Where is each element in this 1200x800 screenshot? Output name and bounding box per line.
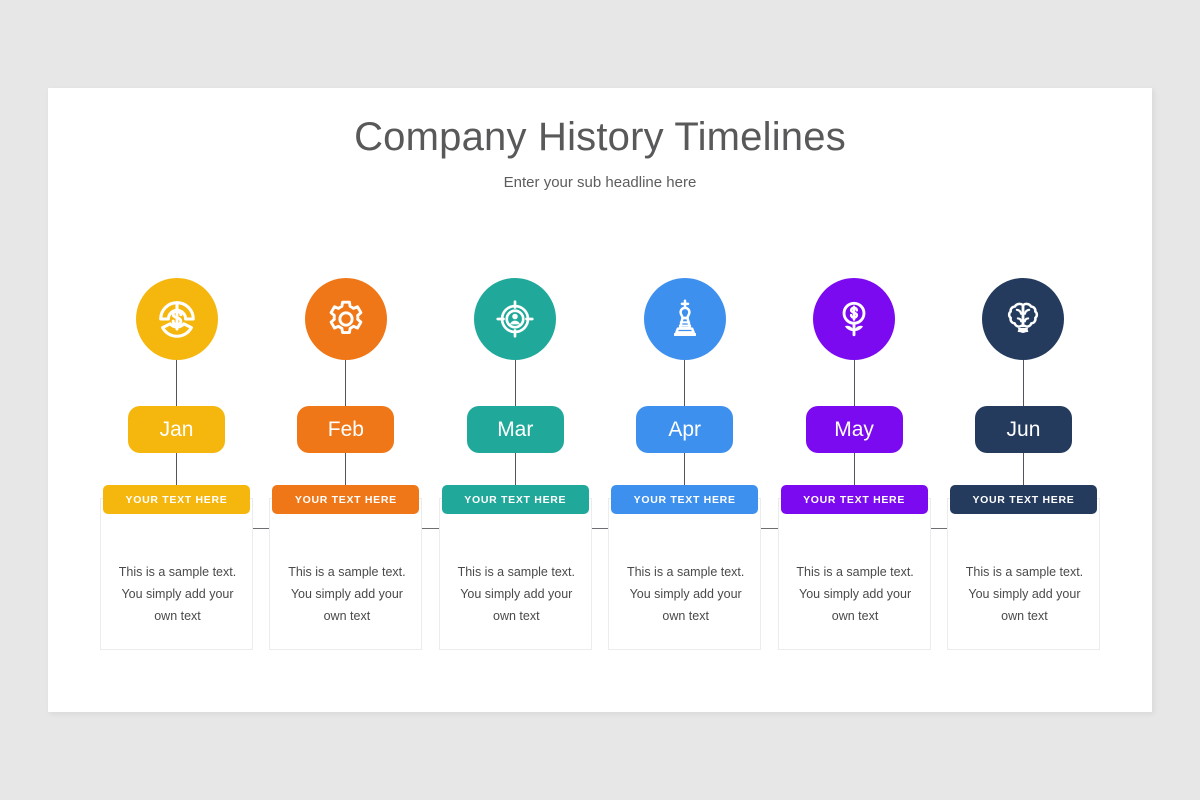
brain-bulb-icon (1000, 296, 1046, 342)
icon-circle-jan[interactable] (136, 278, 218, 360)
chess-king-icon (662, 296, 708, 342)
text-card: This is a sample text. You simply add yo… (608, 498, 761, 650)
card-wrapper-apr: This is a sample text. You simply add yo… (608, 485, 761, 658)
slide-canvas: Company History Timelines Enter your sub… (48, 88, 1152, 712)
card-wrapper-jan: This is a sample text. You simply add yo… (100, 485, 253, 658)
timeline-item-may[interactable]: May This is a sample text. You simply ad… (778, 278, 931, 658)
icon-circle-jun[interactable] (982, 278, 1064, 360)
page-subtitle: Enter your sub headline here (48, 174, 1152, 191)
icon-circle-apr[interactable] (644, 278, 726, 360)
connector-pill-to-card (684, 453, 685, 485)
banner-label: YOUR TEXT HERE (634, 494, 736, 506)
text-card: This is a sample text. You simply add yo… (778, 498, 931, 650)
month-label: May (834, 418, 874, 442)
connector-pill-to-card (1023, 453, 1024, 485)
connector-circle-to-pill (515, 360, 516, 406)
card-wrapper-may: This is a sample text. You simply add yo… (778, 485, 931, 658)
gear-icon (323, 296, 369, 342)
card-wrapper-feb: This is a sample text. You simply add yo… (269, 485, 422, 658)
month-label: Jan (160, 418, 194, 442)
month-pill-jun[interactable]: Jun (975, 406, 1072, 453)
card-banner[interactable]: YOUR TEXT HERE (781, 485, 928, 514)
month-label: Feb (328, 418, 364, 442)
slide-header: Company History Timelines Enter your sub… (48, 114, 1152, 191)
connector-circle-to-pill (1023, 360, 1024, 406)
card-banner[interactable]: YOUR TEXT HERE (611, 485, 758, 514)
text-card: This is a sample text. You simply add yo… (269, 498, 422, 650)
money-flower-icon (831, 296, 877, 342)
card-body-text: This is a sample text. You simply add yo… (789, 561, 922, 627)
connector-circle-to-pill (684, 360, 685, 406)
card-banner[interactable]: YOUR TEXT HERE (103, 485, 250, 514)
timeline-item-mar[interactable]: Mar This is a sample text. You simply ad… (439, 278, 592, 658)
card-banner[interactable]: YOUR TEXT HERE (442, 485, 589, 514)
icon-circle-may[interactable] (813, 278, 895, 360)
text-card: This is a sample text. You simply add yo… (100, 498, 253, 650)
banner-label: YOUR TEXT HERE (972, 494, 1074, 506)
page-title: Company History Timelines (48, 114, 1152, 160)
card-wrapper-mar: This is a sample text. You simply add yo… (439, 485, 592, 658)
banner-label: YOUR TEXT HERE (803, 494, 905, 506)
card-banner[interactable]: YOUR TEXT HERE (950, 485, 1097, 514)
month-pill-apr[interactable]: Apr (636, 406, 733, 453)
month-pill-may[interactable]: May (806, 406, 903, 453)
text-card: This is a sample text. You simply add yo… (439, 498, 592, 650)
timeline-diagram: Jan This is a sample text. You simply ad… (100, 278, 1100, 658)
icon-circle-mar[interactable] (474, 278, 556, 360)
month-pill-mar[interactable]: Mar (467, 406, 564, 453)
connector-pill-to-card (515, 453, 516, 485)
banner-label: YOUR TEXT HERE (295, 494, 397, 506)
banner-label: YOUR TEXT HERE (464, 494, 566, 506)
timeline-columns: Jan This is a sample text. You simply ad… (100, 278, 1100, 658)
connector-circle-to-pill (854, 360, 855, 406)
month-label: Jun (1007, 418, 1041, 442)
card-banner[interactable]: YOUR TEXT HERE (272, 485, 419, 514)
timeline-item-apr[interactable]: Apr This is a sample text. You simply ad… (608, 278, 761, 658)
card-body-text: This is a sample text. You simply add yo… (280, 561, 413, 627)
card-body-text: This is a sample text. You simply add yo… (619, 561, 752, 627)
month-label: Mar (497, 418, 533, 442)
banner-label: YOUR TEXT HERE (126, 494, 228, 506)
card-wrapper-jun: This is a sample text. You simply add yo… (947, 485, 1100, 658)
timeline-item-jun[interactable]: Jun This is a sample text. You simply ad… (947, 278, 1100, 658)
month-pill-feb[interactable]: Feb (297, 406, 394, 453)
text-card: This is a sample text. You simply add yo… (947, 498, 1100, 650)
card-body-text: This is a sample text. You simply add yo… (450, 561, 583, 627)
target-audience-icon (492, 296, 538, 342)
connector-pill-to-card (854, 453, 855, 485)
card-body-text: This is a sample text. You simply add yo… (958, 561, 1091, 627)
timeline-item-feb[interactable]: Feb This is a sample text. You simply ad… (269, 278, 422, 658)
connector-circle-to-pill (345, 360, 346, 406)
month-pill-jan[interactable]: Jan (128, 406, 225, 453)
pie-chart-dollar-icon (154, 296, 200, 342)
timeline-item-jan[interactable]: Jan This is a sample text. You simply ad… (100, 278, 253, 658)
connector-pill-to-card (176, 453, 177, 485)
icon-circle-feb[interactable] (305, 278, 387, 360)
connector-circle-to-pill (176, 360, 177, 406)
month-label: Apr (668, 418, 701, 442)
card-body-text: This is a sample text. You simply add yo… (111, 561, 244, 627)
connector-pill-to-card (345, 453, 346, 485)
